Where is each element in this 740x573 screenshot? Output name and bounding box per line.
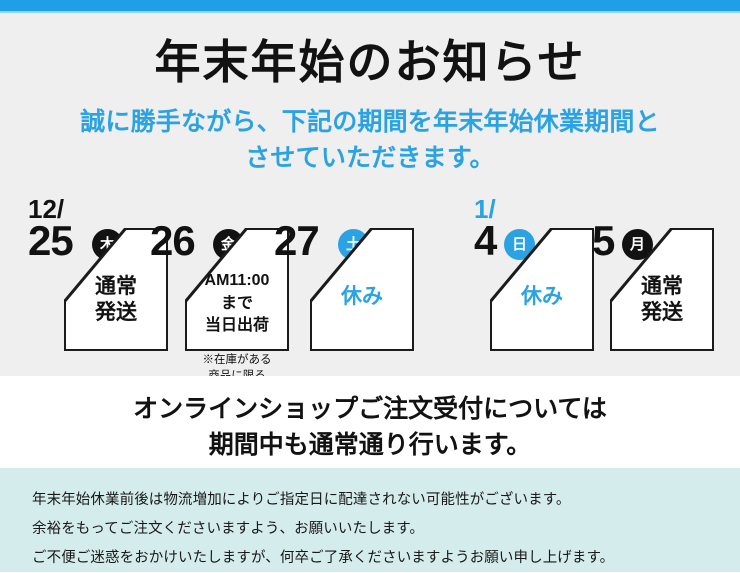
card-status-26: AM11:00 まで 当日出荷	[185, 270, 289, 338]
status-line: 休み	[310, 284, 414, 310]
card-status-4: 休み	[490, 284, 594, 310]
online-shop-band: オンラインショップご注文受付については 期間中も通常通り行います。	[0, 376, 740, 468]
schedule-card-27: 休み	[310, 228, 414, 351]
top-accent-bar	[0, 0, 740, 11]
footer-notice: 年末年始休業前後は物流増加によりご指定日に配達されない可能性がございます。 余裕…	[0, 468, 740, 572]
page-title: 年末年始のお知らせ	[0, 36, 740, 89]
subtitle-line-2: させていただきます。	[0, 141, 740, 177]
footer-line-1: 年末年始休業前後は物流増加によりご指定日に配達されない可能性がございます。	[32, 486, 718, 515]
footer-line-2: 余裕をもってご注文くださいますよう、お願いいたします。	[32, 515, 718, 544]
card-status-27: 休み	[310, 284, 414, 310]
status-line: 休み	[490, 284, 594, 310]
card-status-5: 通常 発送	[610, 274, 714, 325]
online-shop-line-2: 期間中も通常通り行います。	[0, 428, 740, 464]
main-panel: 年末年始のお知らせ 誠に勝手ながら、下記の期間を年末年始休業期間と させていただ…	[0, 13, 740, 376]
status-line: 通常	[64, 274, 168, 300]
footer-line-3: ご不便ご迷惑をおかけいたしますが、何卒ご了承くださいますようお願い申し上げます。	[32, 544, 718, 573]
subtitle-line-1: 誠に勝手ながら、下記の期間を年末年始休業期間と	[0, 105, 740, 141]
notice-page: 年末年始のお知らせ 誠に勝手ながら、下記の期間を年末年始休業期間と させていただ…	[0, 0, 740, 572]
card-status-25: 通常 発送	[64, 274, 168, 325]
status-line: 当日出荷	[185, 315, 289, 338]
schedule-card-row: 12/ 25 木 通常 発送 26 金	[0, 193, 740, 383]
footer-text: 年末年始休業前後は物流増加によりご指定日に配達されない可能性がございます。 余裕…	[32, 486, 718, 573]
status-line: まで	[185, 293, 289, 316]
page-subtitle: 誠に勝手ながら、下記の期間を年末年始休業期間と させていただきます。	[0, 105, 740, 176]
online-shop-message: オンラインショップご注文受付については 期間中も通常通り行います。	[0, 392, 740, 463]
status-line: 発送	[610, 300, 714, 326]
status-line: 発送	[64, 300, 168, 326]
schedule-card-4: 休み	[490, 228, 594, 351]
status-line: AM11:00	[185, 270, 289, 293]
online-shop-line-1: オンラインショップご注文受付については	[0, 392, 740, 428]
stock-footnote-line-1: ※在庫がある	[172, 353, 302, 369]
status-line: 通常	[610, 274, 714, 300]
schedule-card-5: 通常 発送	[610, 228, 714, 351]
